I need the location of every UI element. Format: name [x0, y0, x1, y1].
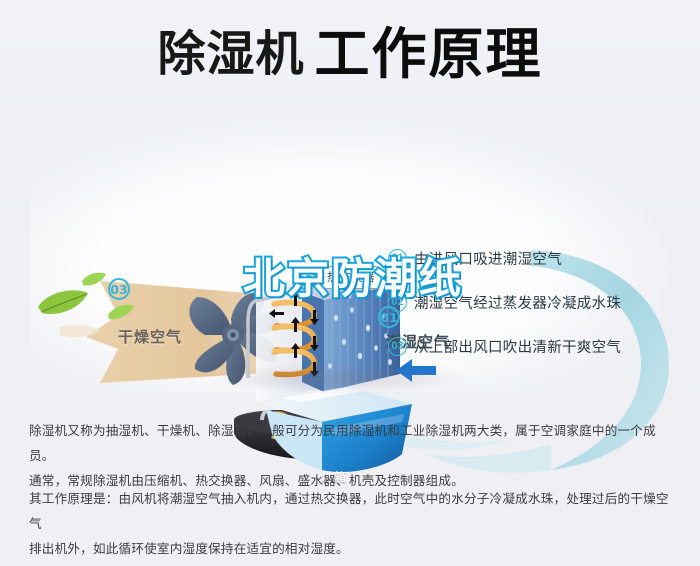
- heat-exchanger-callout: 热交换器: [318, 266, 384, 289]
- page-title-part1: 除湿机: [157, 26, 304, 82]
- step-list: 01 由进风口吸进潮湿空气 02 潮湿空气经过蒸发器冷凝成水珠 03 从上部出风…: [388, 243, 688, 375]
- step-label: 从上部出风口吹出清新干爽空气: [414, 336, 621, 357]
- step-badge: 01: [388, 249, 407, 268]
- description-p2-line1: 其工作原理是：由风机将潮湿空气抽入机内，通过热交换器，此时空气中的水分子冷凝成水…: [29, 486, 674, 536]
- step-badge: 03: [388, 337, 407, 356]
- dehumidifier-infographic-page: 除湿机工作原理: [0, 0, 700, 566]
- description-p1-line1: 除湿机又称为抽湿机、干燥机、除湿器，一般可分为民用除湿机和工业除湿机两大类，属于…: [29, 418, 674, 468]
- page-title: 除湿机工作原理: [0, 26, 700, 82]
- label-dry-air: 03: [108, 278, 130, 300]
- step-label: 由进风口吸进潮湿空气: [414, 248, 562, 269]
- leaf-icon: [38, 290, 88, 314]
- page-title-part2: 工作原理: [315, 22, 543, 86]
- description-paragraph-1: 除湿机又称为抽湿机、干燥机、除湿器，一般可分为民用除湿机和工业除湿机两大类，属于…: [29, 418, 674, 493]
- label-dry-air-badge: 03: [108, 278, 130, 300]
- label-heat-exchanger: 02: [294, 268, 316, 290]
- step-item: 03 从上部出风口吹出清新干爽空气: [388, 331, 688, 361]
- label-dry-air-text: 干燥空气: [118, 326, 182, 347]
- step-item: 01 由进风口吸进潮湿空气: [388, 243, 688, 273]
- label-heat-exchanger-badge: 02: [294, 268, 316, 290]
- leaf-icon: [108, 305, 134, 320]
- leaf-icon: [82, 273, 106, 286]
- step-item: 02 潮湿空气经过蒸发器冷凝成水珠: [388, 287, 688, 317]
- step-badge: 02: [388, 293, 407, 312]
- heat-exchanger-callout-tail: [345, 288, 355, 299]
- description-p2-line2: 排出机外，如此循环使室内湿度保持在适宜的相对湿度。: [29, 536, 674, 561]
- description-paragraph-2: 其工作原理是：由风机将潮湿空气抽入机内，通过热交换器，此时空气中的水分子冷凝成水…: [29, 486, 674, 561]
- leaf-icon-group: [22, 255, 172, 365]
- step-label: 潮湿空气经过蒸发器冷凝成水珠: [414, 292, 621, 313]
